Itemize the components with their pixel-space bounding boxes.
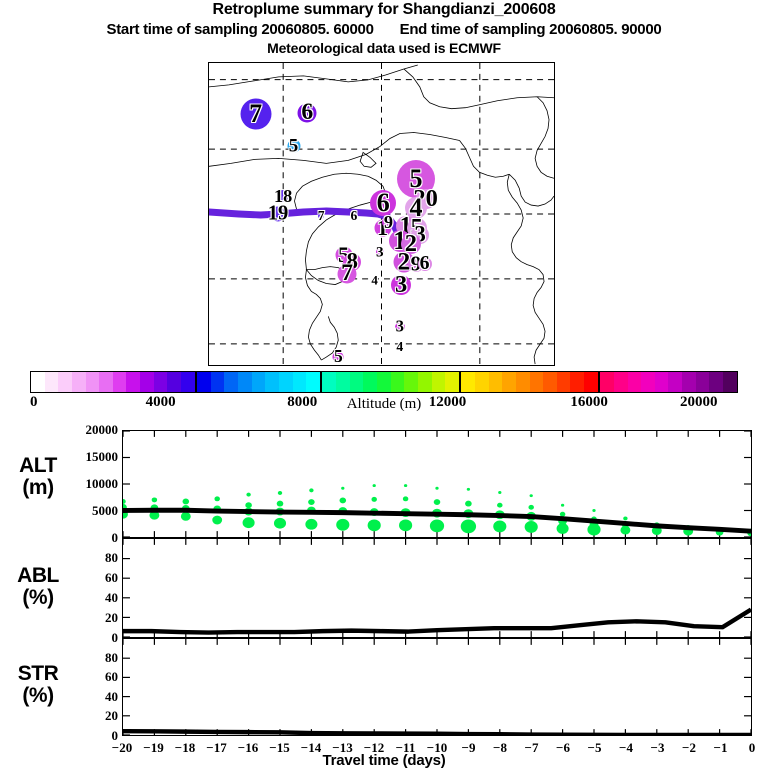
colorbar-segment xyxy=(377,372,391,392)
str-plot-svg xyxy=(123,639,751,735)
colorbar-segment xyxy=(322,372,336,392)
colorbar-segment xyxy=(709,372,723,392)
colorbar-segment xyxy=(557,372,571,392)
alt-bubble xyxy=(592,509,595,512)
colorbar-segment xyxy=(306,372,320,392)
alt-bubble xyxy=(183,499,190,505)
colorbar-segment xyxy=(628,372,642,392)
alt-bubble xyxy=(498,491,501,494)
colorbar-segment xyxy=(570,372,584,392)
colorbar-segment xyxy=(252,372,266,392)
colorbar-segment xyxy=(45,372,59,392)
y-tick-label: 20 xyxy=(0,710,118,722)
alt-bubble xyxy=(587,524,600,536)
alt-bubble xyxy=(525,521,538,533)
colorbar-segment xyxy=(696,372,710,392)
colorbar-segment xyxy=(723,372,737,392)
alt-bubble xyxy=(560,512,565,517)
alt-bubble xyxy=(212,516,222,525)
y-tick-label: 60 xyxy=(0,572,118,584)
alt-bubble xyxy=(403,496,408,501)
y-tick-label: 40 xyxy=(0,592,118,604)
colorbar-segment xyxy=(432,372,446,392)
colorbar-segment xyxy=(584,372,598,392)
page-title: Retroplume summary for Shangdianzi_20060… xyxy=(0,0,768,20)
colorbar-segment xyxy=(113,372,127,392)
sampling-times: Start time of sampling 20060805. 60000En… xyxy=(0,20,768,39)
colorbar-segment xyxy=(502,372,516,392)
alt-bubble xyxy=(305,519,317,530)
end-time-label: End time of sampling 20060805. 90000 xyxy=(400,21,662,38)
alt-bubble xyxy=(373,484,376,487)
abl-plot-panel[interactable] xyxy=(122,538,752,638)
colorbar-segment xyxy=(238,372,252,392)
colorbar-segment xyxy=(516,372,530,392)
colorbar-segment xyxy=(140,372,154,392)
colorbar-gradient xyxy=(30,371,738,393)
colorbar-segment xyxy=(404,372,418,392)
alt-bubble xyxy=(368,519,381,531)
alt-bubble xyxy=(430,519,444,532)
str-plot-panel[interactable] xyxy=(122,638,752,736)
alt-bubble xyxy=(557,523,569,534)
alt-bubble xyxy=(371,497,376,502)
colorbar-segment xyxy=(600,372,614,392)
y-tick-label: 20 xyxy=(0,612,118,624)
colorbar-segment xyxy=(475,372,489,392)
alt-bubble xyxy=(623,516,627,520)
alt-bubble xyxy=(561,504,564,507)
plume-marker-label: 5 xyxy=(289,137,299,156)
alt-bubble xyxy=(243,517,255,528)
alt-bubble xyxy=(214,496,219,501)
colorbar-segment xyxy=(363,372,377,392)
colorbar-segment xyxy=(350,372,364,392)
alt-bubble xyxy=(181,512,191,521)
alt-bubble xyxy=(278,491,282,495)
plume-marker-label: 6 xyxy=(350,209,357,223)
y-tick-label: 10000 xyxy=(0,478,118,490)
y-tick-label: 0 xyxy=(0,532,118,544)
alt-bubble xyxy=(435,487,438,490)
colorbar-segment xyxy=(655,372,669,392)
plume-marker-label: 3 xyxy=(396,319,404,336)
y-tick-label: 5000 xyxy=(0,505,118,517)
alt-bubble xyxy=(308,499,315,505)
abl-plot-svg xyxy=(123,539,751,637)
title-block: Retroplume summary for Shangdianzi_20060… xyxy=(0,0,768,57)
alt-bubble xyxy=(277,501,284,507)
colorbar-segment xyxy=(86,372,100,392)
plume-marker-label: 5 xyxy=(334,349,343,366)
alt-bubble xyxy=(399,519,412,531)
y-tick-label: 0 xyxy=(0,730,118,742)
colorbar-segment xyxy=(489,372,503,392)
alt-bubble xyxy=(530,494,533,497)
colorbar-segment xyxy=(265,372,279,392)
colorbar-segment xyxy=(530,372,544,392)
plume-trajectory-line xyxy=(209,211,401,244)
colorbar-segment xyxy=(72,372,86,392)
colorbar-segment xyxy=(99,372,113,392)
plume-marker-label: 3 xyxy=(395,273,407,298)
plume-marker-label: 7 xyxy=(318,209,325,223)
alt-bubble xyxy=(404,484,407,487)
colorbar-segment xyxy=(614,372,628,392)
alt-bubble xyxy=(274,518,286,529)
y-tick-label: 80 xyxy=(0,652,118,664)
plume-marker-label: 9 xyxy=(384,212,393,230)
abl-line xyxy=(123,610,751,633)
alt-bubble xyxy=(461,520,476,534)
colorbar-title: Altitude (m) xyxy=(0,396,768,413)
y-tick-label: 15000 xyxy=(0,451,118,463)
alt-bubble xyxy=(152,497,157,502)
colorbar-segment xyxy=(126,372,140,392)
plume-marker-label: 4 xyxy=(371,273,378,286)
colorbar-segment xyxy=(154,372,168,392)
alt-bubble xyxy=(528,505,533,510)
y-tick-label: 80 xyxy=(0,552,118,564)
colorbar-segment xyxy=(418,372,432,392)
alt-plot-panel[interactable] xyxy=(122,430,752,538)
colorbar-segment xyxy=(668,372,682,392)
colorbar-segment xyxy=(167,372,181,392)
colorbar-segment xyxy=(543,372,557,392)
colorbar-segment xyxy=(197,372,211,392)
plume-marker-label: 3 xyxy=(376,244,384,259)
plume-marker-label: 7 xyxy=(341,263,353,287)
alt-bubble xyxy=(309,488,313,492)
x-axis-title: Travel time (days) xyxy=(0,752,768,769)
colorbar-segment xyxy=(461,372,475,392)
retroplume-map[interactable]: 765181976652041915312358729643345 xyxy=(208,62,555,366)
plume-marker-label: 6 xyxy=(420,254,430,274)
start-time-label: Start time of sampling 20060805. 60000 xyxy=(107,21,374,38)
plume-marker-label: 6 xyxy=(301,101,313,125)
y-tick-label: 40 xyxy=(0,691,118,703)
y-tick-label: 60 xyxy=(0,671,118,683)
colorbar-segment xyxy=(682,372,696,392)
alt-bubble xyxy=(465,501,472,507)
alt-bubble xyxy=(123,499,126,504)
alt-bubble xyxy=(341,487,344,490)
colorbar-segment xyxy=(336,372,350,392)
colorbar-segment xyxy=(279,372,293,392)
colorbar-segment xyxy=(224,372,238,392)
plume-marker-label: 19 xyxy=(268,204,289,225)
alt-bubble xyxy=(620,526,630,535)
alt-bubble xyxy=(246,493,250,497)
alt-bubble xyxy=(497,503,502,508)
colorbar-segment xyxy=(391,372,405,392)
colorbar-segment xyxy=(641,372,655,392)
alt-bubble xyxy=(245,502,252,508)
alt-bubble xyxy=(340,497,347,503)
colorbar-segment xyxy=(58,372,72,392)
colorbar-segment xyxy=(211,372,225,392)
y-tick-label: 0 xyxy=(0,632,118,644)
alt-plot-svg xyxy=(123,431,751,537)
colorbar-segment xyxy=(181,372,195,392)
colorbar-segment xyxy=(293,372,307,392)
y-tick-label: 20000 xyxy=(0,424,118,436)
plume-marker-label: 7 xyxy=(249,101,262,127)
alt-bubble xyxy=(467,488,470,491)
colorbar-segment xyxy=(445,372,459,392)
alt-bubble xyxy=(434,499,441,505)
alt-bubble xyxy=(336,519,349,531)
plume-marker-label: 4 xyxy=(396,340,403,354)
alt-bubble xyxy=(493,521,506,533)
met-data-label: Meteorological data used is ECMWF xyxy=(0,39,768,57)
colorbar-segment xyxy=(31,372,45,392)
